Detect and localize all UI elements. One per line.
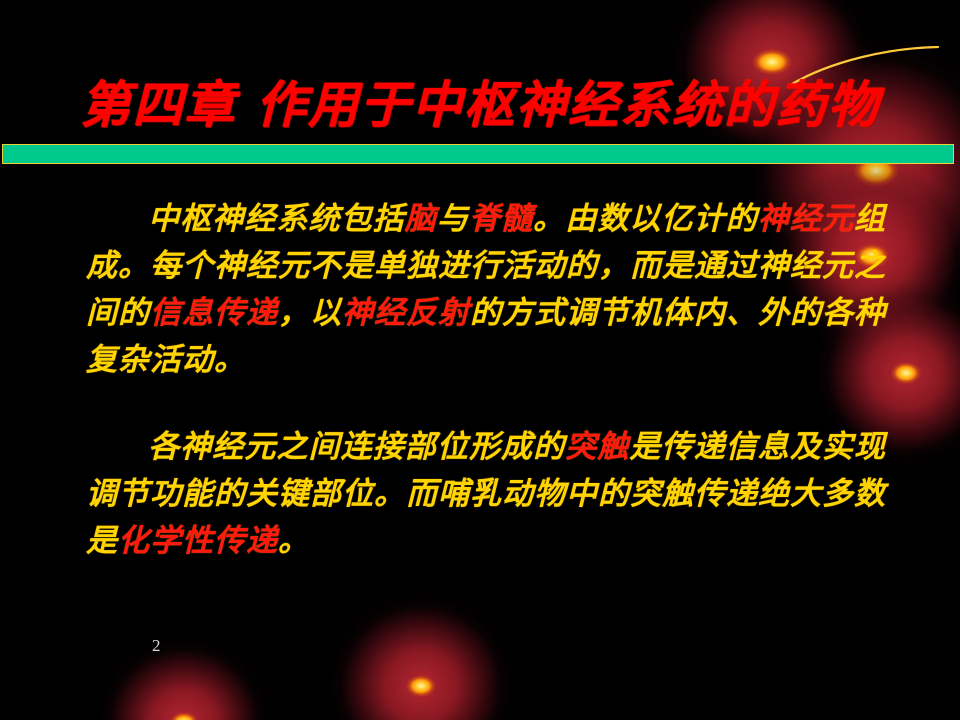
firework-glow-icon	[326, 592, 516, 720]
firework-halo	[96, 636, 272, 720]
firework-glow-icon	[96, 636, 272, 720]
firework-core	[891, 362, 921, 384]
body-paragraph-1: 中枢神经系统包括脑与脊髓。由数以亿计的神经元组成。每个神经元不是单独进行活动的，…	[86, 196, 886, 384]
slide-body-text: 中枢神经系统包括脑与脊髓。由数以亿计的神经元组成。每个神经元不是单独进行活动的，…	[86, 196, 886, 565]
firework-halo	[326, 592, 516, 720]
page-number: 2	[152, 636, 161, 656]
slide-title-block: 第四章 作用于中枢神经系统的药物	[0, 62, 960, 140]
presentation-slide: 第四章 作用于中枢神经系统的药物 中枢神经系统包括脑与脊髓。由数以亿计的神经元组…	[0, 0, 960, 720]
body-paragraph-2: 各神经元之间连接部位形成的突触是传递信息及实现调节功能的关键部位。而哺乳动物中的…	[86, 424, 886, 565]
firework-core	[170, 712, 198, 720]
page-title: 第四章 作用于中枢神经系统的药物	[80, 65, 879, 137]
firework-core	[406, 675, 436, 697]
title-divider-bar	[2, 144, 954, 164]
